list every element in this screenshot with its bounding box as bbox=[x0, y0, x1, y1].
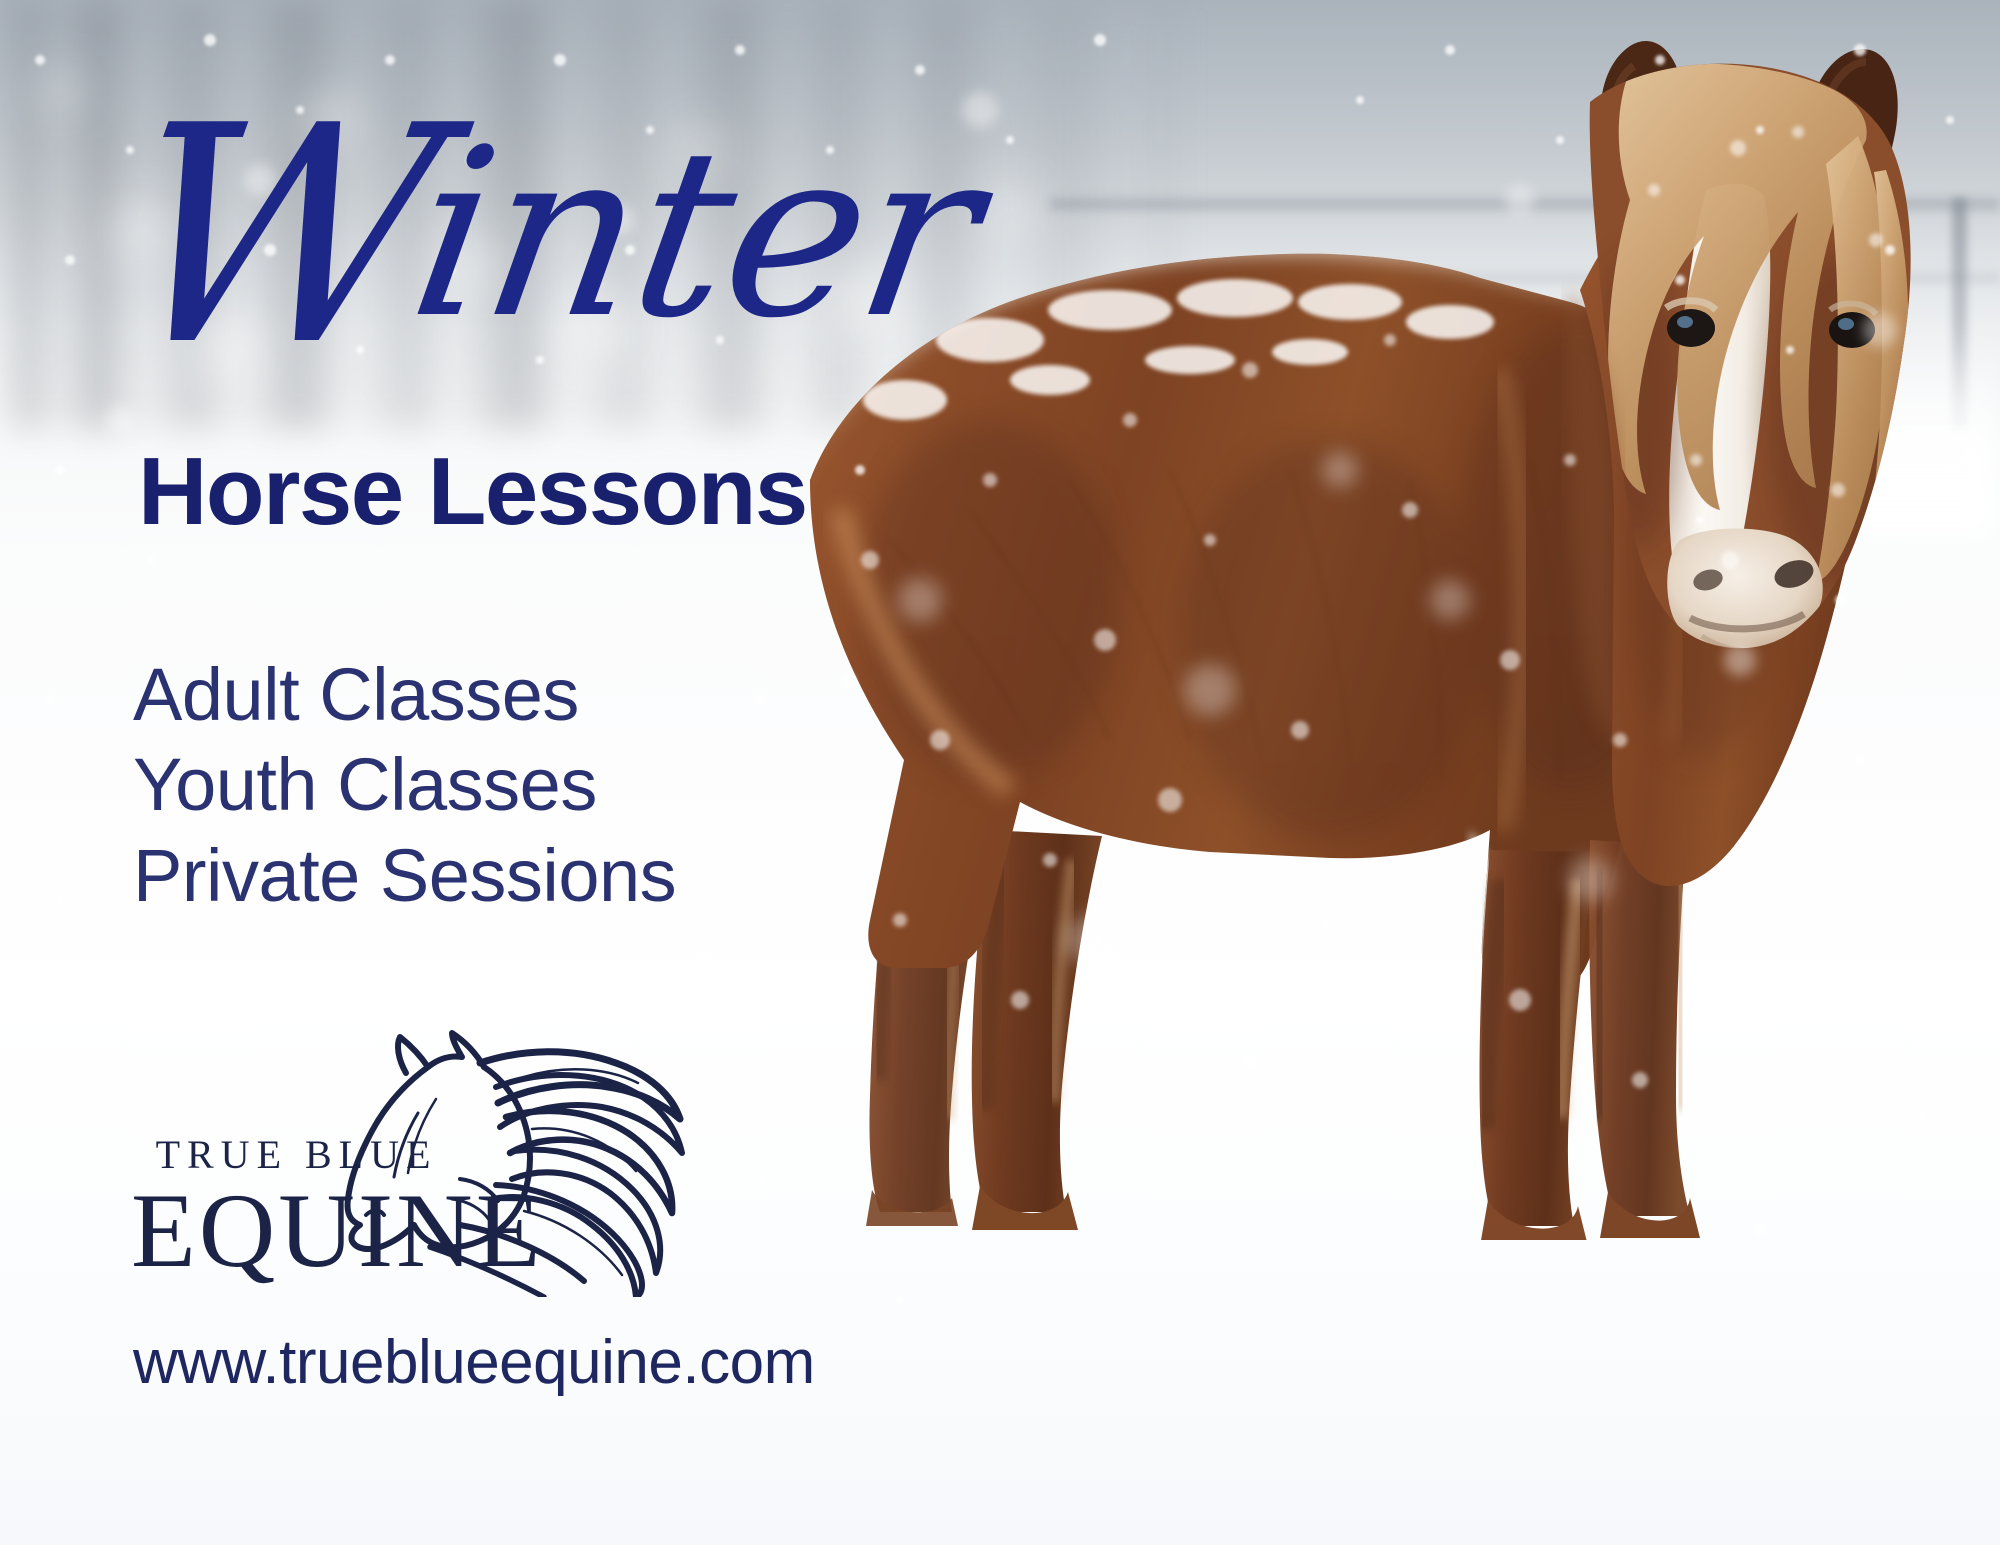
horse-leg-front-far bbox=[1589, 840, 1700, 1238]
website-url[interactable]: www.trueblueequine.com bbox=[133, 1332, 815, 1394]
offering-item-1: Adult Classes bbox=[133, 650, 676, 740]
script-word-winter: Winter bbox=[110, 118, 992, 350]
script-rest-inter: inter bbox=[397, 99, 995, 369]
horse-leg-front-near bbox=[1479, 850, 1596, 1240]
brand-logo[interactable]: TRUE BLUE EQUINE bbox=[118, 1035, 678, 1295]
horse-head-logo-icon bbox=[310, 1029, 690, 1297]
poster-canvas: Winter Horse Lessons Adult Classes Youth… bbox=[0, 0, 2000, 1545]
offering-item-2: Youth Classes bbox=[133, 740, 676, 830]
offerings-list: Adult Classes Youth Classes Private Sess… bbox=[133, 650, 676, 921]
offering-item-3: Private Sessions bbox=[133, 831, 676, 921]
page-title: Horse Lessons bbox=[138, 444, 807, 540]
